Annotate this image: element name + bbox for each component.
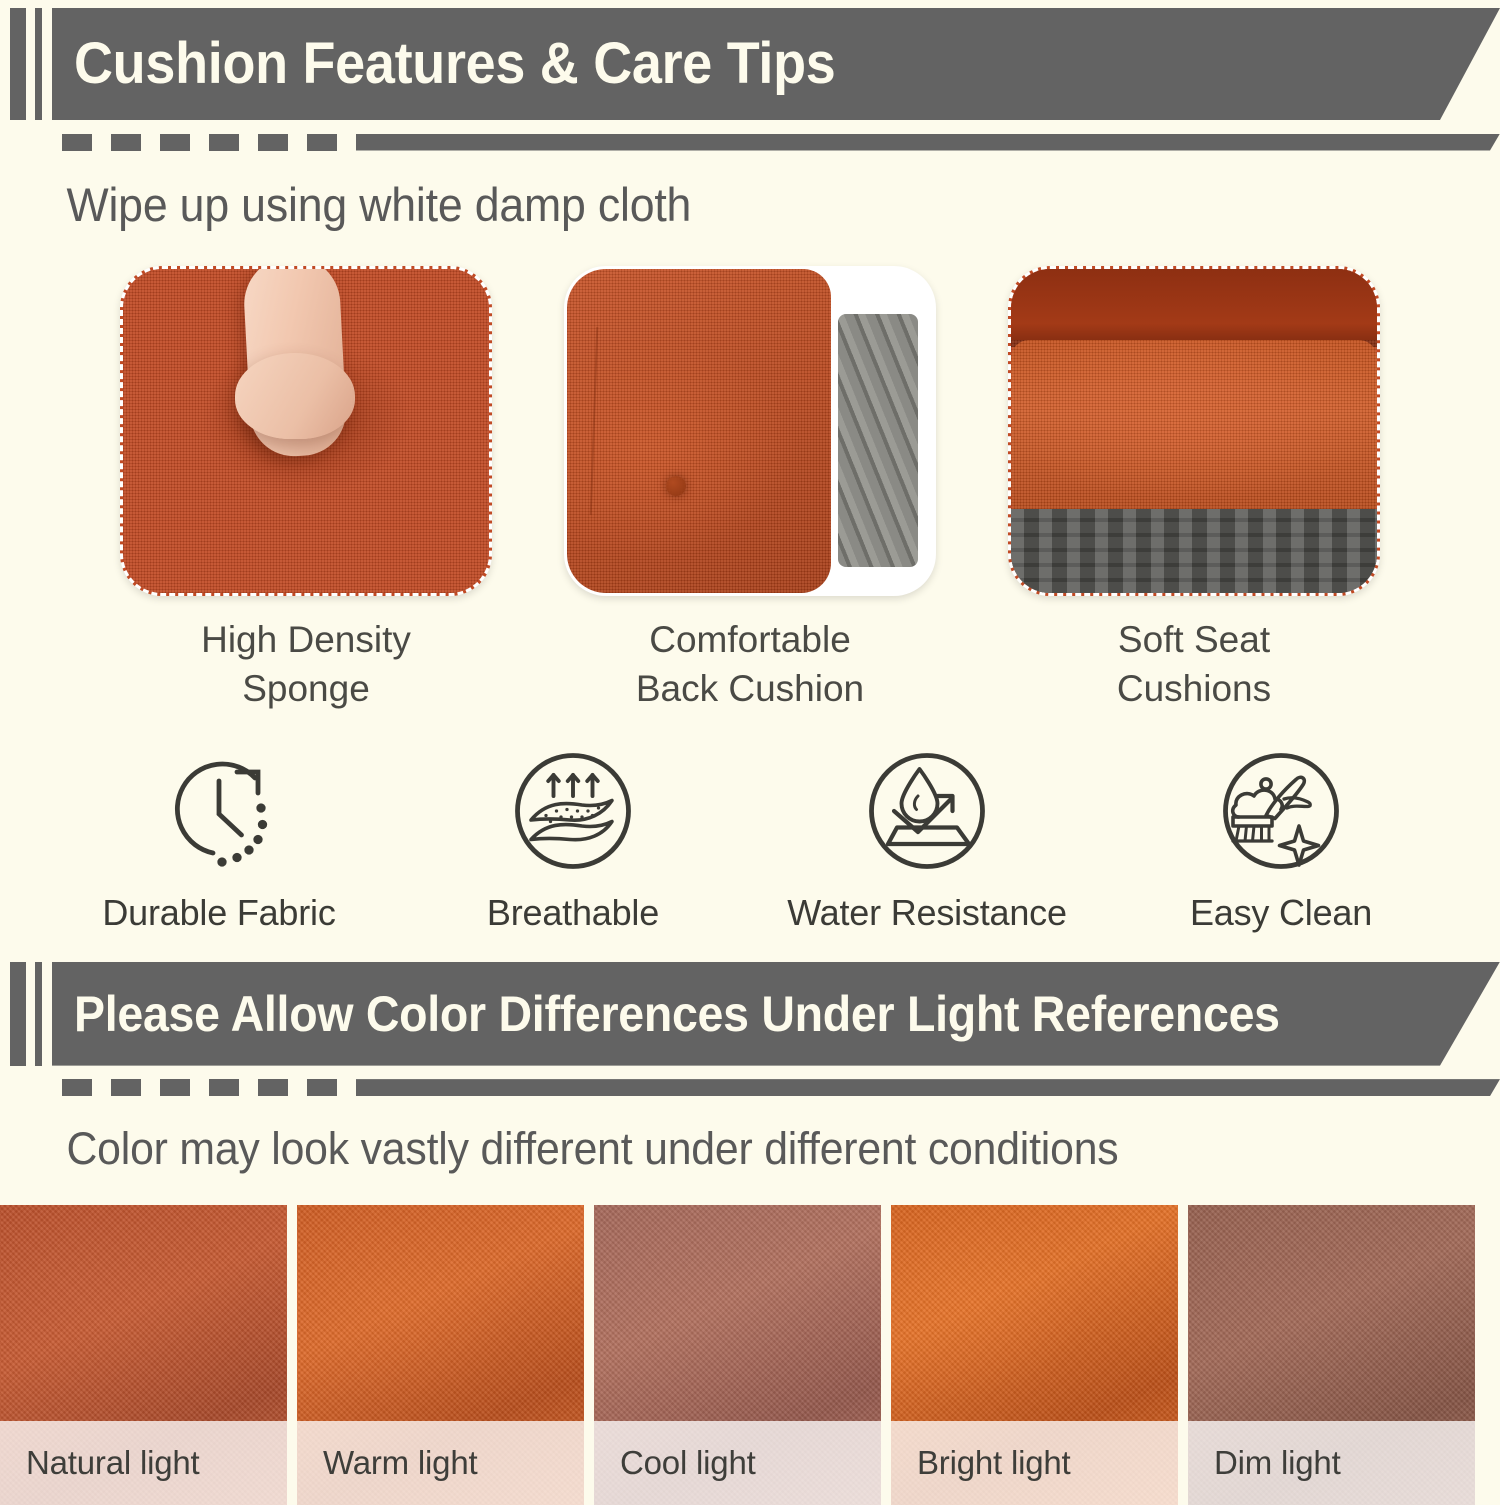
divider-dashes — [62, 1079, 337, 1096]
cushion-features-section: Cushion Features & Care Tips Wipe up usi… — [0, 0, 1500, 934]
section-1-title: Cushion Features & Care Tips — [74, 34, 836, 94]
swatch-cool-light: Cool light — [594, 1205, 881, 1505]
section-2-subheading: Color may look vastly different under di… — [0, 1123, 1425, 1175]
fabric-weave-texture — [1011, 340, 1377, 512]
divider-dashes — [62, 134, 337, 151]
feature-durable-fabric: Durable Fabric — [64, 736, 374, 934]
photo-caption: Soft Seat Cushions — [1008, 616, 1380, 714]
photo-caption-line-2: Cushions — [1008, 665, 1380, 714]
section-2-banner: Please Allow Color Differences Under Lig… — [52, 962, 1500, 1066]
photo-inner — [567, 269, 933, 593]
water-droplet-repel-icon — [772, 736, 1082, 886]
photo-caption-line-1: High Density — [120, 616, 492, 665]
photo-caption-line-1: Comfortable — [564, 616, 936, 665]
section-2-banner-row: Please Allow Color Differences Under Lig… — [0, 962, 1500, 1066]
photo-item-soft-seat-cushions: Soft Seat Cushions — [1008, 266, 1380, 714]
seat-cushion-photo — [1008, 266, 1380, 596]
edge-bar-thin — [35, 8, 42, 120]
swatch-label-band: Dim light — [1188, 1421, 1475, 1505]
section-2-divider — [0, 1075, 1500, 1101]
feature-icons-row: Durable Fabric — [0, 736, 1500, 934]
swatch-label: Cool light — [620, 1444, 756, 1482]
photo-caption-line-2: Back Cushion — [564, 665, 936, 714]
swatch-label: Natural light — [26, 1444, 200, 1482]
section-1-divider — [0, 129, 1500, 155]
swatch-bright-light: Bright light — [891, 1205, 1178, 1505]
left-edge-bars — [0, 962, 52, 1066]
back-cushion-fabric — [567, 269, 831, 593]
swatch-label-band: Bright light — [891, 1421, 1178, 1505]
feature-label: Breathable — [418, 892, 728, 934]
feature-label: Easy Clean — [1126, 892, 1436, 934]
wicker-weave-base — [1011, 509, 1377, 593]
photo-item-high-density-sponge: High Density Sponge — [120, 266, 492, 714]
swatch-natural-light: Natural light — [0, 1205, 287, 1505]
color-differences-section: Please Allow Color Differences Under Lig… — [0, 962, 1500, 1505]
photo-caption-line-2: Sponge — [120, 665, 492, 714]
left-edge-bars — [0, 8, 52, 120]
color-swatch-row: Natural light Warm light Cool light Brig… — [0, 1205, 1500, 1505]
back-cushion-photo — [564, 266, 936, 596]
swatch-label-band: Cool light — [594, 1421, 881, 1505]
divider-solid-bar — [356, 134, 1500, 151]
swatch-label-band: Natural light — [0, 1421, 287, 1505]
edge-bar-thick — [10, 962, 26, 1066]
section-1-banner-row: Cushion Features & Care Tips — [0, 8, 1500, 120]
photo-inner — [1011, 269, 1377, 593]
feature-breathable: Breathable — [418, 736, 728, 934]
clock-arrow-icon — [64, 736, 374, 886]
product-photo-row: High Density Sponge Comfortable Back C — [0, 266, 1500, 714]
photo-item-comfortable-back-cushion: Comfortable Back Cushion — [564, 266, 936, 714]
swatch-label: Bright light — [917, 1444, 1071, 1482]
back-cushion-band — [1011, 269, 1377, 347]
breathable-fabric-icon — [418, 736, 728, 886]
swatch-dim-light: Dim light — [1188, 1205, 1475, 1505]
edge-bar-thick — [10, 8, 26, 120]
wicker-weave — [838, 314, 919, 567]
photo-caption-line-1: Soft Seat — [1008, 616, 1380, 665]
feature-label: Water Resistance — [772, 892, 1082, 934]
swatch-label: Dim light — [1214, 1444, 1341, 1482]
hand-fist — [235, 353, 355, 439]
seat-cushion-fabric — [1011, 340, 1377, 512]
section-2-title: Please Allow Color Differences Under Lig… — [74, 988, 1280, 1040]
feature-label: Durable Fabric — [64, 892, 374, 934]
divider-solid-bar — [356, 1079, 1500, 1096]
photo-caption: Comfortable Back Cushion — [564, 616, 936, 714]
brush-sparkle-icon — [1126, 736, 1436, 886]
feature-easy-clean: Easy Clean — [1126, 736, 1436, 934]
swatch-label: Warm light — [323, 1444, 477, 1482]
photo-caption: High Density Sponge — [120, 616, 492, 714]
swatch-label-band: Warm light — [297, 1421, 584, 1505]
section-1-subheading: Wipe up using white damp cloth — [0, 177, 1425, 232]
edge-bar-thin — [35, 962, 42, 1066]
fabric-weave-texture — [567, 269, 831, 593]
cushion-press-photo — [120, 266, 492, 596]
section-1-banner: Cushion Features & Care Tips — [52, 8, 1500, 120]
swatch-warm-light: Warm light — [297, 1205, 584, 1505]
feature-water-resistance: Water Resistance — [772, 736, 1082, 934]
photo-inner — [123, 269, 489, 593]
